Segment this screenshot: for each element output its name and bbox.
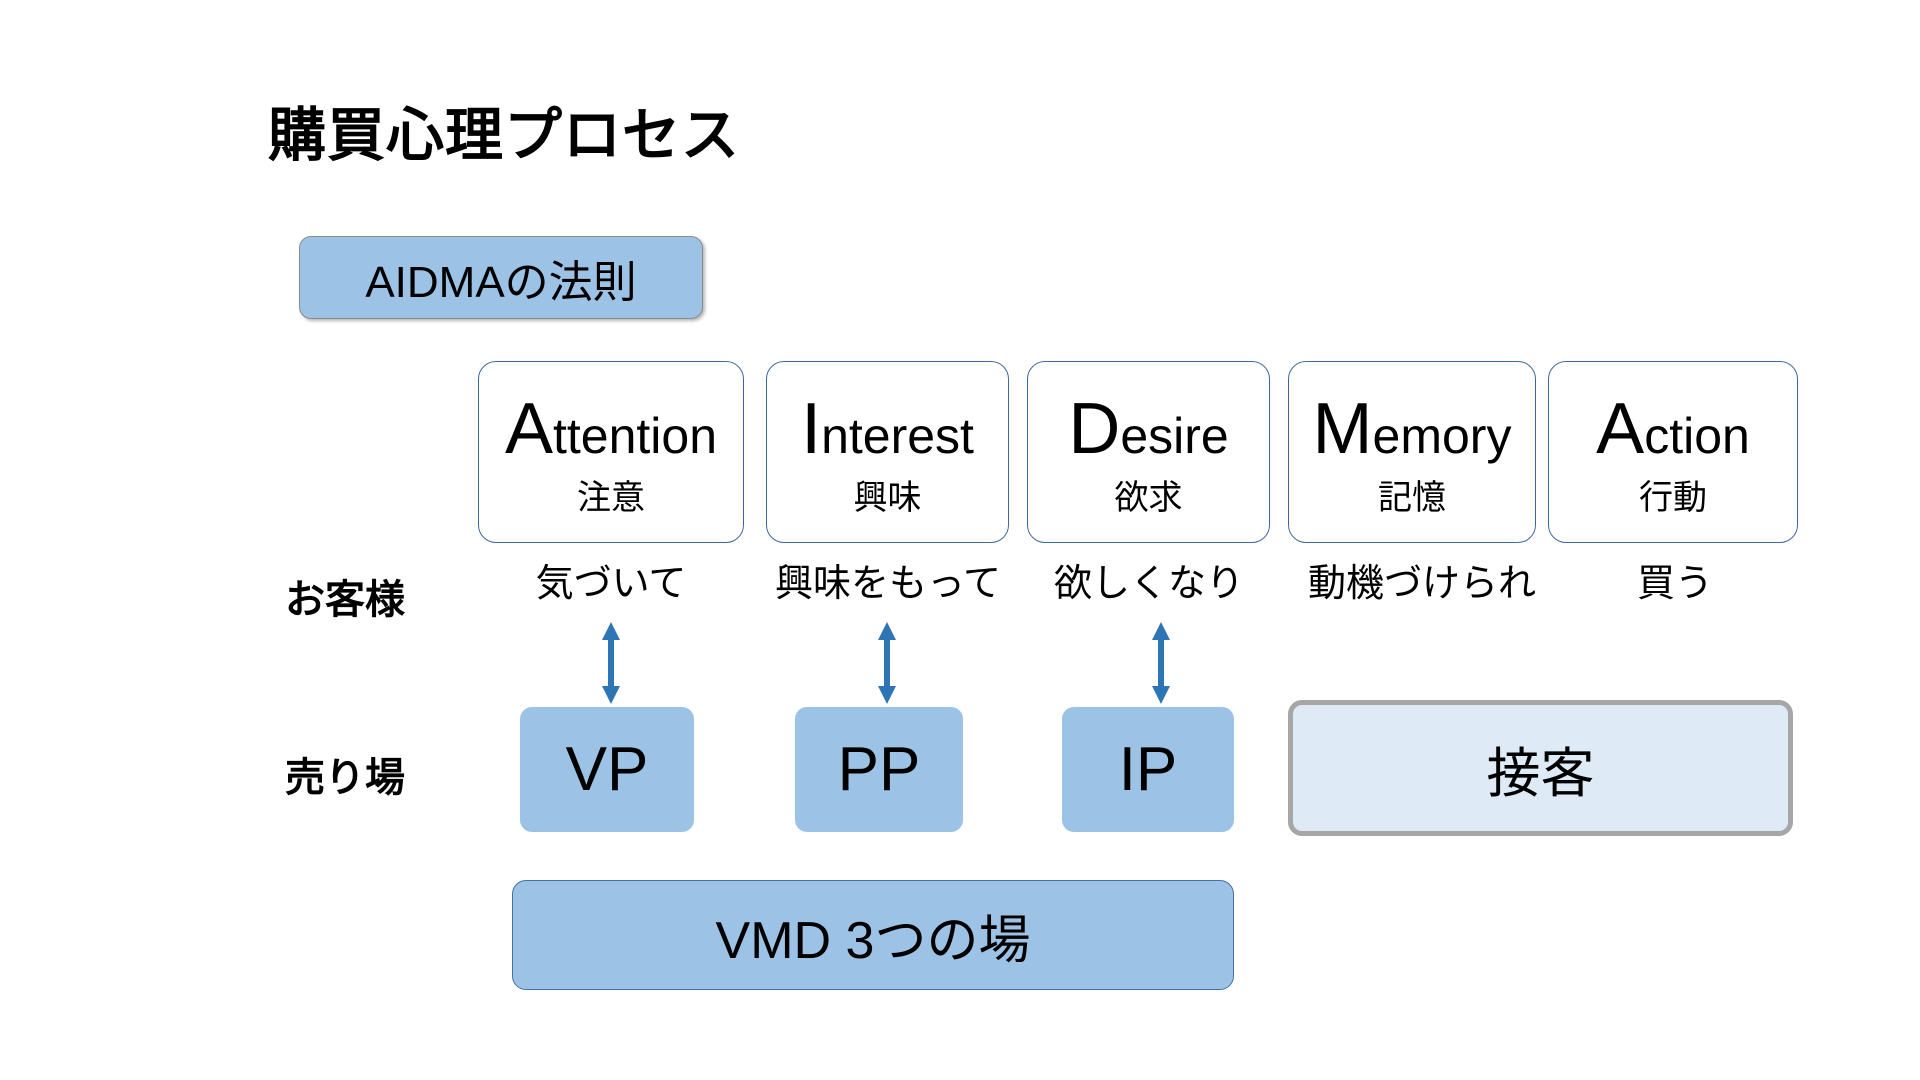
stage-japanese: 興味 [854, 481, 922, 515]
double-arrow-icon-vp [598, 620, 624, 706]
double-arrow-icon-pp [874, 620, 900, 706]
stage-english: Action [1596, 393, 1750, 465]
stage-rest: esire [1120, 408, 1228, 464]
stage-japanese: 記憶 [1378, 481, 1446, 515]
stage-rest: nterest [821, 408, 974, 464]
customer-action-desire: 欲しくなり [1020, 565, 1278, 603]
stage-english: Memory [1313, 393, 1512, 465]
stage-japanese: 注意 [577, 481, 645, 515]
stage-initial: I [801, 389, 821, 469]
stage-japanese: 行動 [1639, 481, 1707, 515]
stage-english: Interest [801, 393, 974, 465]
customer-action-attention: 気づいて [478, 565, 744, 603]
stage-rest: emory [1373, 408, 1512, 464]
stage-english: Desire [1068, 393, 1228, 465]
stage-card-action[interactable]: Action 行動 [1548, 361, 1798, 543]
double-arrow-icon-ip [1148, 620, 1174, 706]
floor-box-label: VP [566, 739, 649, 801]
page-title: 購買心理プロセス [268, 104, 740, 168]
floor-box-ip[interactable]: IP [1062, 707, 1234, 832]
floor-box-label: PP [838, 739, 921, 801]
stage-rest: ction [1644, 408, 1750, 464]
stage-english: Attention [505, 393, 717, 465]
aidma-law-badge[interactable]: AIDMAの法則 [299, 236, 703, 319]
stage-card-desire[interactable]: Desire 欲求 [1027, 361, 1270, 543]
service-box-label: 接客 [1487, 729, 1595, 808]
stage-initial: D [1068, 389, 1120, 469]
slide-canvas: 購買心理プロセス AIDMAの法則 Attention 注意 Interest … [0, 0, 1920, 1080]
customer-action-memory: 動機づけられ [1282, 565, 1562, 603]
stage-rest: ttention [553, 408, 717, 464]
stage-initial: A [1596, 389, 1644, 469]
stage-card-attention[interactable]: Attention 注意 [478, 361, 744, 543]
customer-action-action: 買う [1570, 565, 1780, 603]
row-label-salesfloor: 売り場 [285, 745, 405, 803]
stage-initial: M [1313, 389, 1373, 469]
floor-box-label: IP [1119, 739, 1178, 801]
service-box[interactable]: 接客 [1288, 700, 1793, 836]
row-label-customer: お客様 [285, 567, 405, 625]
stage-initial: A [505, 389, 553, 469]
vmd-bar[interactable]: VMD 3つの場 [512, 880, 1234, 990]
floor-box-pp[interactable]: PP [795, 707, 963, 832]
vmd-bar-label: VMD 3つの場 [716, 898, 1031, 973]
aidma-law-label: AIDMAの法則 [365, 246, 636, 310]
stage-card-interest[interactable]: Interest 興味 [766, 361, 1009, 543]
customer-action-interest: 興味をもって [748, 565, 1028, 603]
stage-card-memory[interactable]: Memory 記憶 [1288, 361, 1536, 543]
stage-japanese: 欲求 [1115, 481, 1183, 515]
floor-box-vp[interactable]: VP [520, 707, 694, 832]
